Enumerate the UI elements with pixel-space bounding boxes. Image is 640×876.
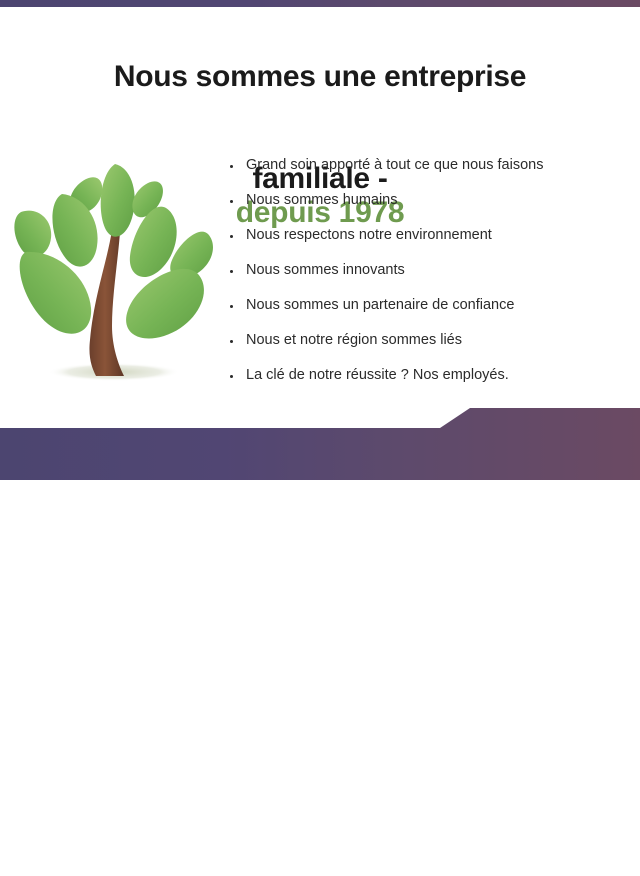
top-accent-strip [0,0,640,7]
list-item-label: Nous et notre région sommes liés [246,332,462,349]
brand-tagline: tabor-automobiles.fr [477,850,590,864]
bullet-dot-icon [230,340,233,343]
footer-shape [0,400,640,480]
list-item-label: Nous sommes un partenaire de confiance [246,297,514,314]
list-item: Nous sommes humains [228,183,628,218]
bullet-dot-icon [230,375,233,378]
list-item: Grand soin apporté à tout ce que nous fa… [228,148,628,183]
list-item-label: La clé de notre réussite ? Nos employés. [246,367,509,384]
list-item: La clé de notre réussite ? Nos employés. [228,358,628,393]
values-list: Grand soin apporté à tout ce que nous fa… [228,148,628,393]
bullet-dot-icon [230,200,233,203]
list-item: Nous sommes innovants [228,253,628,288]
bullet-dot-icon [230,305,233,308]
list-item-label: Grand soin apporté à tout ce que nous fa… [246,157,543,174]
brand-logo[interactable]: tabor-automobiles.fr [474,814,640,876]
list-item-label: Nous respectons notre environnement [246,227,492,244]
list-item: Nous et notre région sommes liés [228,323,628,358]
list-item: Nous respectons notre environnement [228,218,628,253]
footer-bar: tabor-automobiles.fr [0,400,640,480]
page-title-line-1: Nous sommes une entreprise [0,60,640,94]
tabor-wordmark-icon [474,814,640,844]
list-item-label: Nous sommes humains [246,192,398,209]
bullet-dot-icon [230,270,233,273]
tree-illustration [8,150,223,385]
list-item: Nous sommes un partenaire de confiance [228,288,628,323]
list-item-label: Nous sommes innovants [246,262,405,279]
bullet-dot-icon [230,235,233,238]
bullet-dot-icon [230,165,233,168]
